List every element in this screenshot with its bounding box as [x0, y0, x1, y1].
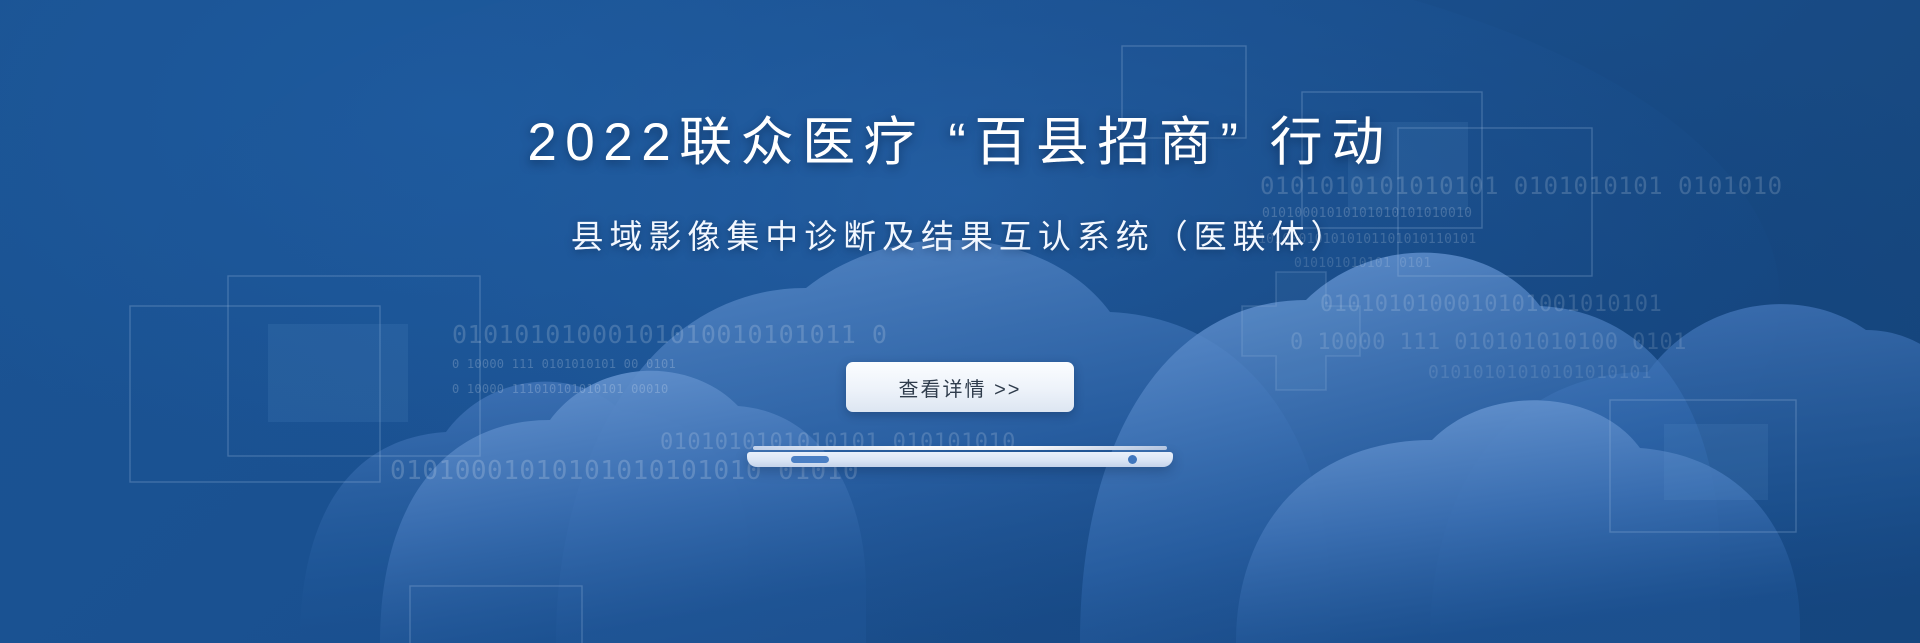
laptop-notch-indicator: [791, 456, 829, 463]
view-details-button[interactable]: 查看详情 >>: [846, 362, 1074, 412]
laptop-lid-edge: [753, 446, 1167, 450]
banner-subtitle: 县域影像集中诊断及结果互认系统（医联体）: [571, 220, 1350, 253]
laptop-camera-dot: [1128, 455, 1137, 464]
banner-title: 2022联众医疗 “百县招商” 行动: [527, 116, 1392, 169]
banner-content: 2022联众医疗 “百县招商” 行动 县域影像集中诊断及结果互认系统（医联体） …: [0, 0, 1920, 643]
promo-banner: 01010101000101010010101011 0 0 10000 111…: [0, 0, 1920, 643]
laptop-illustration: [747, 446, 1173, 472]
